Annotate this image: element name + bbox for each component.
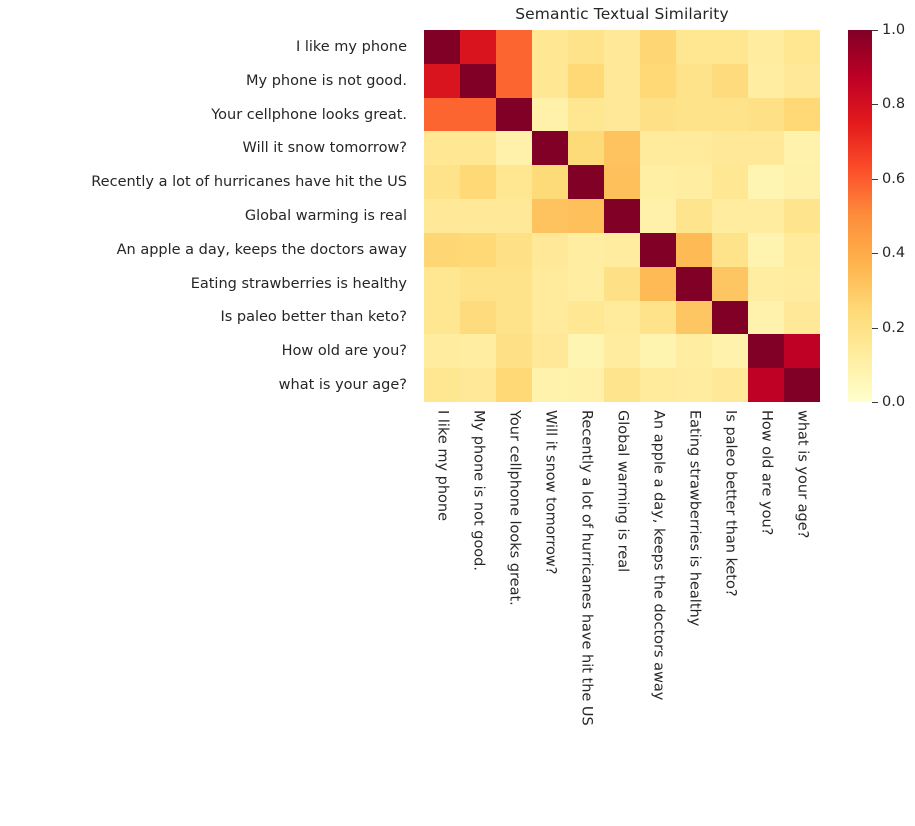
heatmap-cell bbox=[424, 368, 460, 402]
x-axis-tick-label: what is your age? bbox=[795, 410, 810, 538]
heatmap-cell bbox=[676, 368, 712, 402]
heatmap-cell bbox=[784, 64, 820, 98]
heatmap-cell bbox=[424, 98, 460, 132]
colorbar-tick-label: 0.0 bbox=[882, 394, 905, 410]
heatmap-cell bbox=[712, 64, 748, 98]
heatmap-cell bbox=[676, 98, 712, 132]
heatmap-cell bbox=[568, 199, 604, 233]
heatmap-cell bbox=[424, 199, 460, 233]
heatmap-cell bbox=[604, 131, 640, 165]
heatmap-cell bbox=[568, 131, 604, 165]
heatmap-grid bbox=[424, 30, 820, 402]
heatmap-cell bbox=[640, 334, 676, 368]
colorbar: 1.00.80.60.40.20.0 bbox=[848, 30, 872, 402]
heatmap-cell bbox=[532, 199, 568, 233]
colorbar-tick bbox=[872, 253, 878, 254]
heatmap-cell bbox=[640, 301, 676, 335]
heatmap-cell bbox=[604, 267, 640, 301]
heatmap-cell bbox=[604, 233, 640, 267]
heatmap-cell bbox=[496, 199, 532, 233]
y-axis-tick-label: Global warming is real bbox=[0, 199, 416, 233]
heatmap-cell bbox=[496, 131, 532, 165]
heatmap-cell bbox=[712, 334, 748, 368]
heatmap-cell bbox=[460, 199, 496, 233]
heatmap-cell bbox=[604, 98, 640, 132]
heatmap-cell bbox=[640, 30, 676, 64]
heatmap-cell bbox=[496, 98, 532, 132]
heatmap-cell bbox=[496, 301, 532, 335]
heatmap-cell bbox=[424, 165, 460, 199]
heatmap-cell bbox=[460, 233, 496, 267]
x-axis-tick-label: Recently a lot of hurricanes have hit th… bbox=[579, 410, 594, 726]
heatmap-cell bbox=[604, 165, 640, 199]
heatmap-cell bbox=[640, 98, 676, 132]
x-axis-tick-slot: Recently a lot of hurricanes have hit th… bbox=[568, 402, 604, 812]
heatmap-cell bbox=[568, 233, 604, 267]
x-axis-tick-label: Global warming is real bbox=[615, 410, 630, 572]
colorbar-tick-label: 0.6 bbox=[882, 171, 905, 187]
heatmap-cell bbox=[748, 334, 784, 368]
heatmap-cell bbox=[604, 301, 640, 335]
heatmap-cell bbox=[676, 30, 712, 64]
heatmap-cell bbox=[568, 301, 604, 335]
heatmap-cell bbox=[424, 233, 460, 267]
heatmap-cell bbox=[748, 30, 784, 64]
y-axis-tick-label: My phone is not good. bbox=[0, 64, 416, 98]
colorbar-tick bbox=[872, 179, 878, 180]
heatmap-cell bbox=[784, 165, 820, 199]
heatmap-cell bbox=[748, 131, 784, 165]
x-axis-tick-label: An apple a day, keeps the doctors away bbox=[651, 410, 666, 700]
heatmap-cell bbox=[460, 267, 496, 301]
heatmap-cell bbox=[604, 334, 640, 368]
heatmap-cell bbox=[676, 64, 712, 98]
heatmap-cell bbox=[460, 30, 496, 64]
heatmap-cell bbox=[532, 334, 568, 368]
heatmap-cell bbox=[784, 131, 820, 165]
heatmap-cell bbox=[676, 199, 712, 233]
heatmap-cell bbox=[784, 233, 820, 267]
heatmap-cell bbox=[568, 98, 604, 132]
heatmap-cell bbox=[640, 233, 676, 267]
heatmap-cell bbox=[748, 165, 784, 199]
heatmap-cell bbox=[712, 131, 748, 165]
heatmap-cell bbox=[748, 199, 784, 233]
heatmap-cell bbox=[460, 165, 496, 199]
y-axis-labels: I like my phoneMy phone is not good.Your… bbox=[0, 30, 416, 402]
heatmap-cell bbox=[496, 165, 532, 199]
y-axis-tick-label: Recently a lot of hurricanes have hit th… bbox=[0, 165, 416, 199]
heatmap-cell bbox=[784, 98, 820, 132]
y-axis-tick-label: How old are you? bbox=[0, 334, 416, 368]
heatmap-cell bbox=[676, 334, 712, 368]
heatmap-figure: Semantic Textual Similarity I like my ph… bbox=[0, 0, 915, 826]
heatmap-cell bbox=[424, 64, 460, 98]
x-axis-tick-slot: Is paleo better than keto? bbox=[712, 402, 748, 812]
heatmap-cell bbox=[424, 30, 460, 64]
heatmap-cell bbox=[640, 165, 676, 199]
heatmap-cell bbox=[604, 199, 640, 233]
y-axis-tick-label: what is your age? bbox=[0, 368, 416, 402]
heatmap-cell bbox=[424, 131, 460, 165]
y-axis-tick-label: Eating strawberries is healthy bbox=[0, 267, 416, 301]
x-axis-labels: I like my phoneMy phone is not good.Your… bbox=[424, 402, 820, 812]
heatmap-cell bbox=[676, 233, 712, 267]
colorbar-tick bbox=[872, 402, 878, 403]
heatmap-cell bbox=[496, 64, 532, 98]
heatmap-cell bbox=[496, 233, 532, 267]
heatmap-cell bbox=[748, 233, 784, 267]
heatmap-cell bbox=[604, 368, 640, 402]
heatmap-cell bbox=[496, 267, 532, 301]
y-axis-tick-label: Your cellphone looks great. bbox=[0, 98, 416, 132]
heatmap-cell bbox=[712, 98, 748, 132]
x-axis-tick-slot: My phone is not good. bbox=[460, 402, 496, 812]
heatmap-cell bbox=[784, 267, 820, 301]
heatmap-cell bbox=[784, 368, 820, 402]
heatmap-cell bbox=[784, 30, 820, 64]
heatmap-cell bbox=[748, 98, 784, 132]
heatmap-cell bbox=[712, 165, 748, 199]
x-axis-tick-label: How old are you? bbox=[759, 410, 774, 535]
heatmap-cell bbox=[640, 131, 676, 165]
heatmap-cell bbox=[748, 64, 784, 98]
heatmap-cell bbox=[460, 131, 496, 165]
heatmap-cell bbox=[532, 267, 568, 301]
heatmap-cell bbox=[748, 368, 784, 402]
heatmap-cell bbox=[604, 64, 640, 98]
x-axis-tick-slot: An apple a day, keeps the doctors away bbox=[640, 402, 676, 812]
colorbar-gradient bbox=[848, 30, 872, 402]
heatmap-cell bbox=[532, 368, 568, 402]
heatmap-cell bbox=[532, 64, 568, 98]
heatmap-cell bbox=[784, 301, 820, 335]
y-axis-tick-label: Is paleo better than keto? bbox=[0, 301, 416, 335]
x-axis-tick-label: Is paleo better than keto? bbox=[723, 410, 738, 597]
heatmap-cell bbox=[676, 131, 712, 165]
heatmap-cell bbox=[568, 30, 604, 64]
y-axis-tick-label: Will it snow tomorrow? bbox=[0, 131, 416, 165]
heatmap-cell bbox=[748, 267, 784, 301]
heatmap-cell bbox=[424, 334, 460, 368]
heatmap-cell bbox=[568, 165, 604, 199]
heatmap-cell bbox=[712, 368, 748, 402]
heatmap-cell bbox=[640, 368, 676, 402]
x-axis-tick-slot: I like my phone bbox=[424, 402, 460, 812]
heatmap-cell bbox=[496, 334, 532, 368]
x-axis-tick-slot: Eating strawberries is healthy bbox=[676, 402, 712, 812]
heatmap-cell bbox=[784, 199, 820, 233]
heatmap-cell bbox=[712, 233, 748, 267]
heatmap-cell bbox=[532, 233, 568, 267]
colorbar-tick-label: 1.0 bbox=[882, 22, 905, 38]
heatmap-cell bbox=[712, 267, 748, 301]
heatmap-cell bbox=[676, 267, 712, 301]
heatmap-cell bbox=[748, 301, 784, 335]
page-title: Semantic Textual Similarity bbox=[424, 5, 820, 23]
x-axis-tick-slot: How old are you? bbox=[748, 402, 784, 812]
heatmap-cell bbox=[460, 301, 496, 335]
heatmap-cell bbox=[640, 64, 676, 98]
heatmap-cell bbox=[676, 165, 712, 199]
heatmap-cell bbox=[532, 165, 568, 199]
colorbar-tick bbox=[872, 328, 878, 329]
heatmap-cell bbox=[532, 30, 568, 64]
heatmap-cell bbox=[712, 301, 748, 335]
x-axis-tick-slot: Your cellphone looks great. bbox=[496, 402, 532, 812]
heatmap-cell bbox=[424, 301, 460, 335]
y-axis-tick-label: An apple a day, keeps the doctors away bbox=[0, 233, 416, 267]
heatmap-cell bbox=[568, 368, 604, 402]
heatmap-cell bbox=[460, 64, 496, 98]
x-axis-tick-slot: Will it snow tomorrow? bbox=[532, 402, 568, 812]
heatmap-cell bbox=[784, 334, 820, 368]
heatmap-cell bbox=[640, 199, 676, 233]
heatmap-cell bbox=[568, 334, 604, 368]
heatmap-cell bbox=[532, 98, 568, 132]
heatmap-cell bbox=[568, 64, 604, 98]
colorbar-tick-label: 0.8 bbox=[882, 96, 905, 112]
x-axis-tick-slot: what is your age? bbox=[784, 402, 820, 812]
heatmap-cell bbox=[460, 368, 496, 402]
heatmap-cell bbox=[712, 199, 748, 233]
heatmap-cell bbox=[424, 267, 460, 301]
colorbar-tick-label: 0.4 bbox=[882, 245, 905, 261]
heatmap-cell bbox=[676, 301, 712, 335]
heatmap-cell bbox=[640, 267, 676, 301]
heatmap-cell bbox=[604, 30, 640, 64]
heatmap-cell bbox=[532, 131, 568, 165]
heatmap-cell bbox=[496, 368, 532, 402]
x-axis-tick-label: My phone is not good. bbox=[471, 410, 486, 571]
y-axis-tick-label: I like my phone bbox=[0, 30, 416, 64]
colorbar-tick-label: 0.2 bbox=[882, 320, 905, 336]
x-axis-tick-label: Will it snow tomorrow? bbox=[543, 410, 558, 574]
heatmap-cell bbox=[532, 301, 568, 335]
heatmap-cell bbox=[568, 267, 604, 301]
colorbar-tick bbox=[872, 30, 878, 31]
colorbar-tick bbox=[872, 104, 878, 105]
heatmap-cell bbox=[496, 30, 532, 64]
x-axis-tick-label: Eating strawberries is healthy bbox=[687, 410, 702, 626]
x-axis-tick-slot: Global warming is real bbox=[604, 402, 640, 812]
heatmap-cell bbox=[712, 30, 748, 64]
x-axis-tick-label: I like my phone bbox=[435, 410, 450, 521]
heatmap-cell bbox=[460, 334, 496, 368]
x-axis-tick-label: Your cellphone looks great. bbox=[507, 410, 522, 606]
heatmap-cell bbox=[460, 98, 496, 132]
